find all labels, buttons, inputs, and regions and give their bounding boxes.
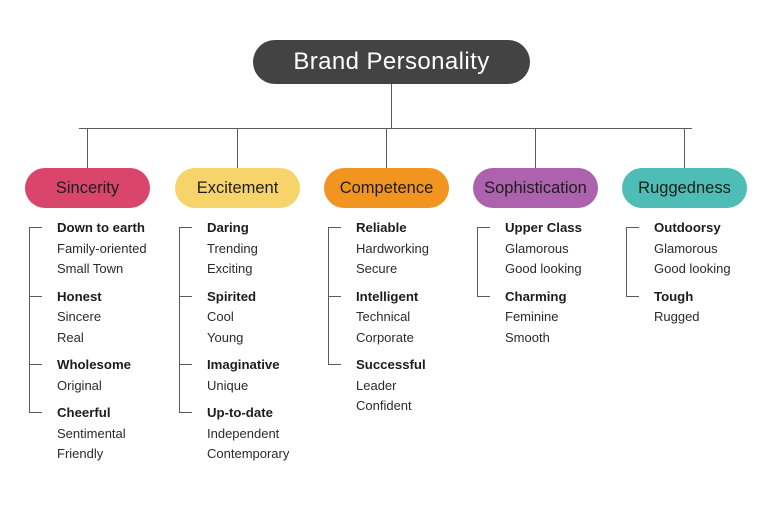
facet-trait: Young bbox=[207, 328, 300, 349]
category-label: Competence bbox=[340, 180, 434, 197]
facet-heading: Spirited bbox=[207, 287, 300, 308]
bracket-tick bbox=[179, 296, 192, 297]
facet-group-list: DaringTrendingExcitingSpiritedCoolYoungI… bbox=[175, 218, 300, 465]
facet-heading: Successful bbox=[356, 355, 449, 376]
connector-drop-ruggedness bbox=[684, 128, 685, 168]
facet-trait: Sincere bbox=[57, 307, 150, 328]
category-pill-competence[interactable]: Competence bbox=[324, 168, 449, 208]
connector-drop-sophistication bbox=[535, 128, 536, 168]
facet-trait: Feminine bbox=[505, 307, 598, 328]
bracket-tick bbox=[626, 296, 639, 297]
facet-group: Down to earthFamily-orientedSmall Town bbox=[57, 218, 150, 280]
bracket-tick bbox=[29, 296, 42, 297]
facet-trait: Unique bbox=[207, 376, 300, 397]
bracket-tick bbox=[29, 412, 42, 413]
facet-heading: Imaginative bbox=[207, 355, 300, 376]
root-node-label: Brand Personality bbox=[293, 50, 489, 74]
facet-trait: Real bbox=[57, 328, 150, 349]
facet-trait: Hardworking bbox=[356, 239, 449, 260]
facet-group-list: Down to earthFamily-orientedSmall TownHo… bbox=[25, 218, 150, 465]
facet-trait: Glamorous bbox=[654, 239, 747, 260]
bracket-spine bbox=[626, 227, 627, 296]
facet-heading: Intelligent bbox=[356, 287, 449, 308]
connector-drop-sincerity bbox=[87, 128, 88, 168]
facet-heading: Honest bbox=[57, 287, 150, 308]
facet-trait: Small Town bbox=[57, 259, 150, 280]
facet-group: WholesomeOriginal bbox=[57, 355, 150, 396]
facet-trait: Family-oriented bbox=[57, 239, 150, 260]
facet-group: CharmingFeminineSmooth bbox=[505, 287, 598, 349]
facet-heading: Reliable bbox=[356, 218, 449, 239]
facet-group: Upper ClassGlamorousGood looking bbox=[505, 218, 598, 280]
facet-group: IntelligentTechnicalCorporate bbox=[356, 287, 449, 349]
facet-trait: Cool bbox=[207, 307, 300, 328]
facet-trait: Rugged bbox=[654, 307, 747, 328]
bracket-tick bbox=[328, 227, 341, 228]
facet-group: OutdoorsyGlamorousGood looking bbox=[654, 218, 747, 280]
facet-trait: Leader bbox=[356, 376, 449, 397]
facet-group: ReliableHardworkingSecure bbox=[356, 218, 449, 280]
brand-personality-diagram: Brand Personality SincerityDown to earth… bbox=[0, 0, 768, 532]
category-column-ruggedness: RuggednessOutdoorsyGlamorousGood looking… bbox=[622, 168, 747, 335]
connector-trunk bbox=[391, 84, 392, 129]
bracket-tick bbox=[179, 364, 192, 365]
facet-trait: Friendly bbox=[57, 444, 150, 465]
facet-group: Up-to-dateIndependentContemporary bbox=[207, 403, 300, 465]
category-label: Sophistication bbox=[484, 180, 587, 197]
facet-trait: Good looking bbox=[505, 259, 598, 280]
facet-trait: Smooth bbox=[505, 328, 598, 349]
category-pill-excitement[interactable]: Excitement bbox=[175, 168, 300, 208]
facet-group-list: ReliableHardworkingSecureIntelligentTech… bbox=[324, 218, 449, 417]
facet-heading: Tough bbox=[654, 287, 747, 308]
facet-trait: Corporate bbox=[356, 328, 449, 349]
facet-group: DaringTrendingExciting bbox=[207, 218, 300, 280]
category-pill-ruggedness[interactable]: Ruggedness bbox=[622, 168, 747, 208]
category-column-sincerity: SincerityDown to earthFamily-orientedSma… bbox=[25, 168, 150, 472]
category-label: Sincerity bbox=[56, 180, 119, 197]
facet-group: ImaginativeUnique bbox=[207, 355, 300, 396]
facet-group: ToughRugged bbox=[654, 287, 747, 328]
bracket-spine bbox=[29, 227, 30, 412]
facet-trait: Exciting bbox=[207, 259, 300, 280]
connector-drop-competence bbox=[386, 128, 387, 168]
facet-heading: Daring bbox=[207, 218, 300, 239]
facet-trait: Contemporary bbox=[207, 444, 300, 465]
facet-trait: Good looking bbox=[654, 259, 747, 280]
bracket-tick bbox=[29, 227, 42, 228]
category-column-sophistication: SophisticationUpper ClassGlamorousGood l… bbox=[473, 168, 598, 355]
bracket-tick bbox=[179, 412, 192, 413]
facet-trait: Secure bbox=[356, 259, 449, 280]
category-column-excitement: ExcitementDaringTrendingExcitingSpirited… bbox=[175, 168, 300, 472]
bracket-tick bbox=[328, 364, 341, 365]
connector-drop-excitement bbox=[237, 128, 238, 168]
facet-group: CheerfulSentimentalFriendly bbox=[57, 403, 150, 465]
bracket-tick bbox=[29, 364, 42, 365]
bracket-spine bbox=[179, 227, 180, 412]
facet-group: SpiritedCoolYoung bbox=[207, 287, 300, 349]
bracket-tick bbox=[179, 227, 192, 228]
facet-trait: Original bbox=[57, 376, 150, 397]
facet-group-list: Upper ClassGlamorousGood lookingCharming… bbox=[473, 218, 598, 348]
facet-heading: Outdoorsy bbox=[654, 218, 747, 239]
facet-trait: Sentimental bbox=[57, 424, 150, 445]
category-pill-sophistication[interactable]: Sophistication bbox=[473, 168, 598, 208]
bracket-tick bbox=[328, 296, 341, 297]
facet-heading: Down to earth bbox=[57, 218, 150, 239]
facet-trait: Confident bbox=[356, 396, 449, 417]
facet-heading: Cheerful bbox=[57, 403, 150, 424]
category-column-competence: CompetenceReliableHardworkingSecureIntel… bbox=[324, 168, 449, 424]
facet-group-list: OutdoorsyGlamorousGood lookingToughRugge… bbox=[622, 218, 747, 328]
facet-trait: Trending bbox=[207, 239, 300, 260]
bracket-tick bbox=[626, 227, 639, 228]
facet-heading: Upper Class bbox=[505, 218, 598, 239]
facet-trait: Glamorous bbox=[505, 239, 598, 260]
facet-group: SuccessfulLeaderConfident bbox=[356, 355, 449, 417]
root-node-brand-personality: Brand Personality bbox=[253, 40, 530, 84]
facet-group: HonestSincereReal bbox=[57, 287, 150, 349]
category-label: Ruggedness bbox=[638, 180, 731, 197]
bracket-tick bbox=[477, 296, 490, 297]
facet-heading: Charming bbox=[505, 287, 598, 308]
bracket-tick bbox=[477, 227, 490, 228]
category-pill-sincerity[interactable]: Sincerity bbox=[25, 168, 150, 208]
facet-heading: Up-to-date bbox=[207, 403, 300, 424]
facet-heading: Wholesome bbox=[57, 355, 150, 376]
facet-trait: Independent bbox=[207, 424, 300, 445]
facet-trait: Technical bbox=[356, 307, 449, 328]
bracket-spine bbox=[477, 227, 478, 296]
category-label: Excitement bbox=[197, 180, 279, 197]
